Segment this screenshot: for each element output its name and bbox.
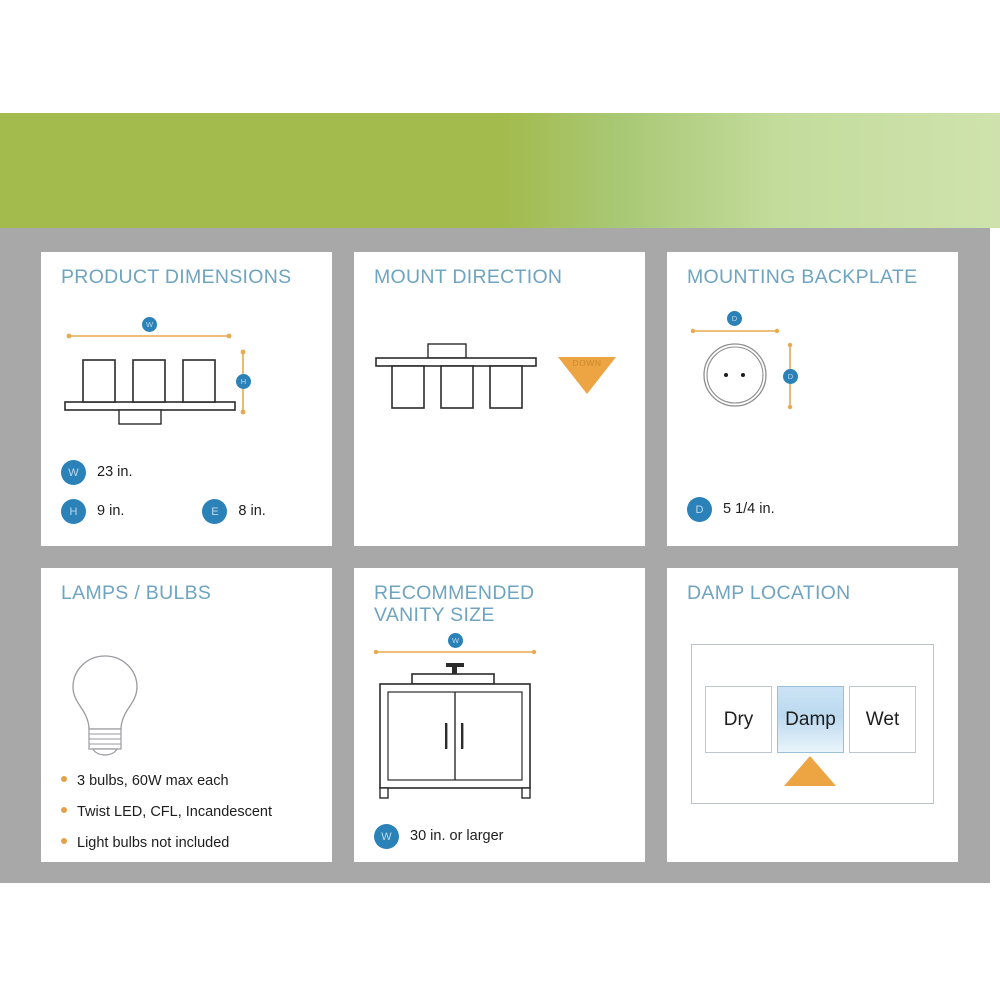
light-bulb-icon	[55, 646, 155, 766]
card-title-damp-location: DAMP LOCATION	[687, 582, 851, 604]
badge-backplate-height-marker: D	[783, 369, 798, 384]
card-title-product-dimensions: PRODUCT DIMENSIONS	[61, 266, 291, 288]
bullet-text: 3 bulbs, 60W max each	[77, 773, 229, 789]
vanity-diagram: W	[366, 630, 566, 810]
spec-value-diameter: 5 1/4 in.	[723, 502, 775, 517]
fixture-shade-2	[133, 360, 165, 402]
vanity-handle-left	[445, 723, 447, 749]
vanity-width-endpoint-right	[532, 650, 536, 654]
spec-row-vanity-width: W 30 in. or larger	[374, 824, 504, 849]
card-title-mounting-backplate: MOUNTING BACKPLATE	[687, 266, 917, 288]
card-title-lamps-bulbs: LAMPS / BULBS	[61, 582, 211, 604]
width-dimension-endpoint-left	[67, 334, 72, 339]
bullet-text: Twist LED, CFL, Incandescent	[77, 804, 272, 820]
down-arrow-label: DOWN	[561, 358, 613, 368]
bullet-dot-icon	[61, 776, 67, 782]
spec-row-diameter: D 5 1/4 in.	[687, 497, 775, 522]
backplate-height-endpoint-top	[788, 343, 792, 347]
rating-option-dry[interactable]: Dry	[705, 686, 772, 753]
card-mounting-backplate: MOUNTING BACKPLATE D D D	[667, 252, 958, 546]
mount-shade-3	[490, 366, 522, 408]
badge-backplate-width-marker: D	[727, 311, 742, 326]
vanity-leg-left	[380, 788, 388, 798]
height-dimension-endpoint-bottom	[241, 410, 246, 415]
badge-e: E	[202, 499, 227, 524]
selected-rating-arrow-icon	[784, 756, 836, 786]
mount-direction-diagram: DOWN	[368, 332, 633, 432]
card-title-recommended-vanity-size: RECOMMENDED VANITY SIZE	[374, 582, 534, 627]
bullet-dot-icon	[61, 838, 67, 844]
width-dimension-endpoint-right	[227, 334, 232, 339]
spec-value-width: 23 in.	[97, 465, 132, 480]
mount-shade-2	[441, 366, 473, 408]
card-product-dimensions: PRODUCT DIMENSIONS W H	[41, 252, 332, 546]
list-item: Twist LED, CFL, Incandescent	[61, 804, 321, 820]
fixture-bar	[65, 402, 235, 410]
product-dimensions-diagram: W H	[57, 314, 317, 424]
backplate-inner-ring	[707, 347, 763, 403]
bullet-text: Light bulbs not included	[77, 835, 229, 851]
fixture-backplate	[119, 410, 161, 424]
backplate-screw-hole-right	[741, 373, 745, 377]
badge-h: H	[61, 499, 86, 524]
card-title-mount-direction: MOUNT DIRECTION	[374, 266, 562, 288]
backplate-screw-hole-left	[724, 373, 728, 377]
card-recommended-vanity-size: RECOMMENDED VANITY SIZE	[354, 568, 645, 862]
card-mount-direction: MOUNT DIRECTION DOWN	[354, 252, 645, 546]
backplate-width-endpoint-left	[691, 329, 695, 333]
vanity-leg-right	[522, 788, 530, 798]
vanity-width-endpoint-left	[374, 650, 378, 654]
header-green-band	[0, 113, 1000, 228]
height-dimension-endpoint-top	[241, 350, 246, 355]
spec-value-vanity-width: 30 in. or larger	[410, 829, 504, 844]
fixture-shade-3	[183, 360, 215, 402]
spec-row-height: H 9 in.	[61, 499, 124, 524]
mounting-backplate-diagram: D D	[685, 307, 845, 427]
backplate-width-endpoint-right	[775, 329, 779, 333]
rating-option-damp[interactable]: Damp	[777, 686, 844, 753]
spec-row-width: W 23 in.	[61, 460, 316, 485]
list-item: 3 bulbs, 60W max each	[61, 773, 321, 789]
mount-bar	[376, 358, 536, 366]
spec-value-extension: 8 in.	[238, 504, 265, 519]
rating-option-wet[interactable]: Wet	[849, 686, 916, 753]
mount-backplate	[428, 344, 466, 358]
badge-d: D	[687, 497, 712, 522]
product-dimensions-spec-list: W 23 in. H 9 in. E 8 in.	[61, 460, 316, 524]
damp-rating-options: Dry Damp Wet	[705, 686, 916, 753]
mounting-backplate-spec-list: D 5 1/4 in.	[687, 497, 775, 522]
badge-vanity-width-marker: W	[448, 633, 463, 648]
spec-row-extension: E 8 in.	[202, 499, 265, 524]
list-item: Light bulbs not included	[61, 835, 321, 851]
mount-shade-1	[392, 366, 424, 408]
card-lamps-bulbs: LAMPS / BULBS 3 bulbs, 60W max each Twis…	[41, 568, 332, 862]
bulb-glass	[73, 656, 137, 729]
damp-location-diagram: Dry Damp Wet	[691, 644, 934, 804]
fixture-shade-1	[83, 360, 115, 402]
backplate-height-endpoint-bottom	[788, 405, 792, 409]
spec-value-height: 9 in.	[97, 504, 124, 519]
lamps-bulbs-bullet-list: 3 bulbs, 60W max each Twist LED, CFL, In…	[61, 773, 321, 862]
badge-width-marker: W	[142, 317, 157, 332]
vanity-countertop	[412, 674, 494, 684]
badge-height-marker: H	[236, 374, 251, 389]
vanity-spec-list: W 30 in. or larger	[374, 824, 504, 849]
card-damp-location: DAMP LOCATION Dry Damp Wet	[667, 568, 958, 862]
badge-w-vanity: W	[374, 824, 399, 849]
spec-row-group-height-extension: H 9 in. E 8 in.	[61, 499, 316, 524]
vanity-handle-right	[461, 723, 463, 749]
bulb-contact-tip	[93, 749, 117, 755]
bullet-dot-icon	[61, 807, 67, 813]
badge-w: W	[61, 460, 86, 485]
spec-card-grid: PRODUCT DIMENSIONS W H	[41, 252, 949, 862]
